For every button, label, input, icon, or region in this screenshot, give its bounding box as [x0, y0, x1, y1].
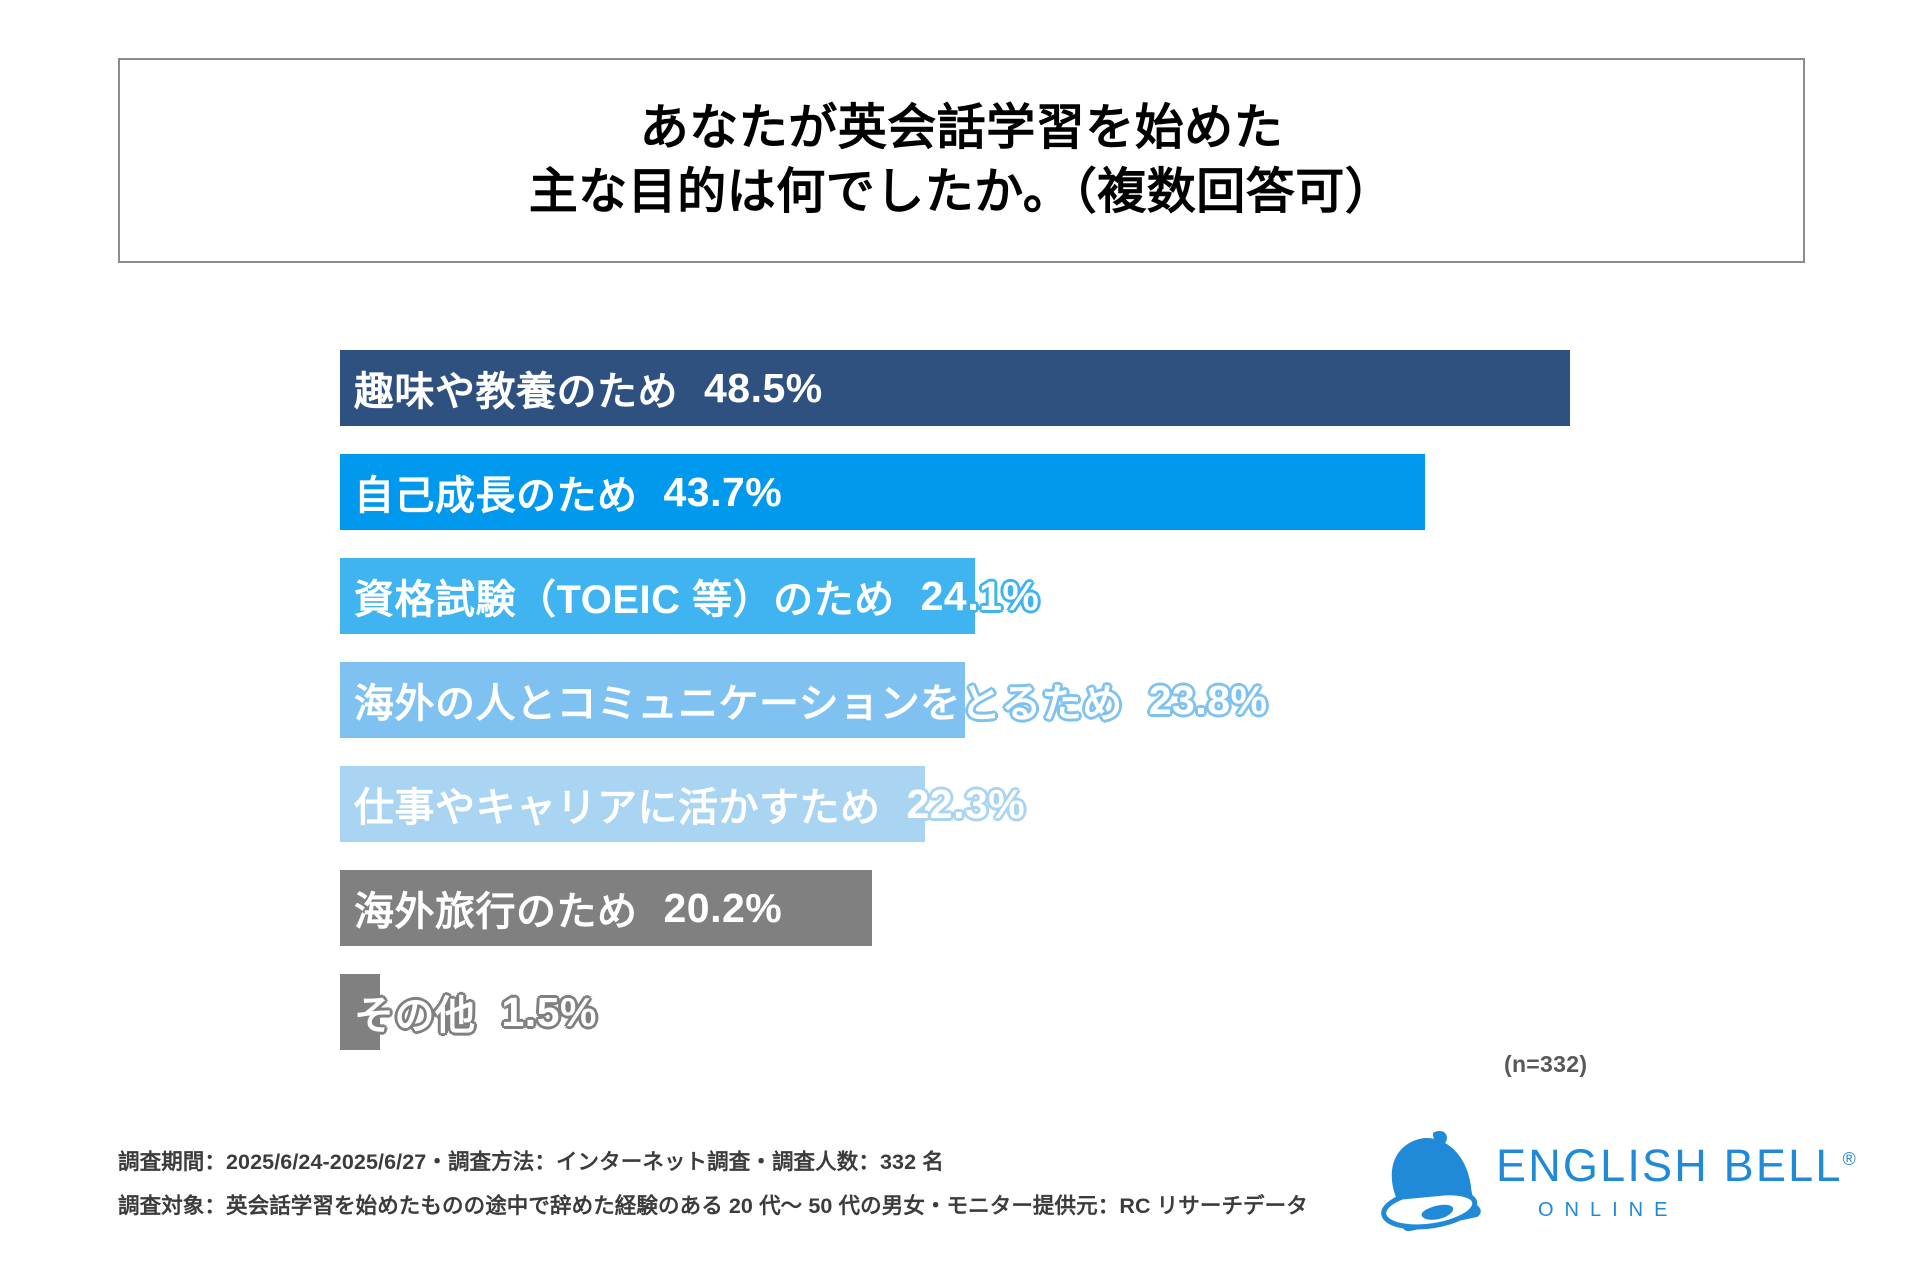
page-title-box: あなたが英会話学習を始めた 主な目的は何でしたか。（複数回答可） [118, 58, 1805, 263]
chart-row: 仕事やキャリアに活かすため22.3% [0, 766, 1920, 842]
logo-brand-name: ENGLISH BELL [1496, 1140, 1843, 1191]
bar-value-text: 1.5% [502, 989, 597, 1036]
footer-notes: 調査期間：2025/6/24-2025/6/27・調査方法：インターネット調査・… [118, 1152, 1418, 1239]
sample-size-label: (n=332) [1504, 1051, 1587, 1078]
brand-logo: ENGLISH BELL® ONLINE [1378, 1125, 1798, 1243]
bell-icon [1378, 1127, 1490, 1235]
bar-rect[interactable] [340, 870, 872, 946]
footer-line-survey-target: 調査対象：英会話学習を始めたものの途中で辞めた経験のある 20 代〜 50 代の… [118, 1196, 1418, 1218]
chart-row: その他1.5% [0, 974, 1920, 1050]
chart-row: 資格試験（TOEIC 等）のため24.1% [0, 558, 1920, 634]
slide-canvas: あなたが英会話学習を始めた 主な目的は何でしたか。（複数回答可） 趣味や教養のた… [0, 0, 1920, 1280]
bar-rect[interactable] [340, 662, 965, 738]
chart-row: 趣味や教養のため48.5% [0, 350, 1920, 426]
page-title-line-1: あなたが英会話学習を始めた [640, 97, 1284, 161]
chart-row: 海外の人とコミュニケーションをとるため23.8% [0, 662, 1920, 738]
bar-label: その他1.5% [354, 974, 597, 1050]
logo-main-text: ENGLISH BELL® [1496, 1143, 1856, 1188]
logo-text: ENGLISH BELL® ONLINE [1496, 1143, 1856, 1220]
logo-sub-text: ONLINE [1538, 1200, 1856, 1220]
bar-rect[interactable] [340, 454, 1425, 530]
bar-rect[interactable] [340, 766, 925, 842]
chart-row: 海外旅行のため20.2% [0, 870, 1920, 946]
bar-rect[interactable] [340, 974, 380, 1050]
bar-value-text: 23.8% [1149, 677, 1268, 724]
footer-line-survey-period: 調査期間：2025/6/24-2025/6/27・調査方法：インターネット調査・… [118, 1152, 1418, 1174]
page-title-line-2: 主な目的は何でしたか。（複数回答可） [529, 161, 1395, 225]
bar-rect[interactable] [340, 350, 1570, 426]
registered-trademark-icon: ® [1843, 1149, 1856, 1169]
bar-rect[interactable] [340, 558, 975, 634]
chart-row: 自己成長のため43.7% [0, 454, 1920, 530]
bar-chart: 趣味や教養のため48.5%自己成長のため43.7%資格試験（TOEIC 等）のた… [0, 350, 1920, 1078]
